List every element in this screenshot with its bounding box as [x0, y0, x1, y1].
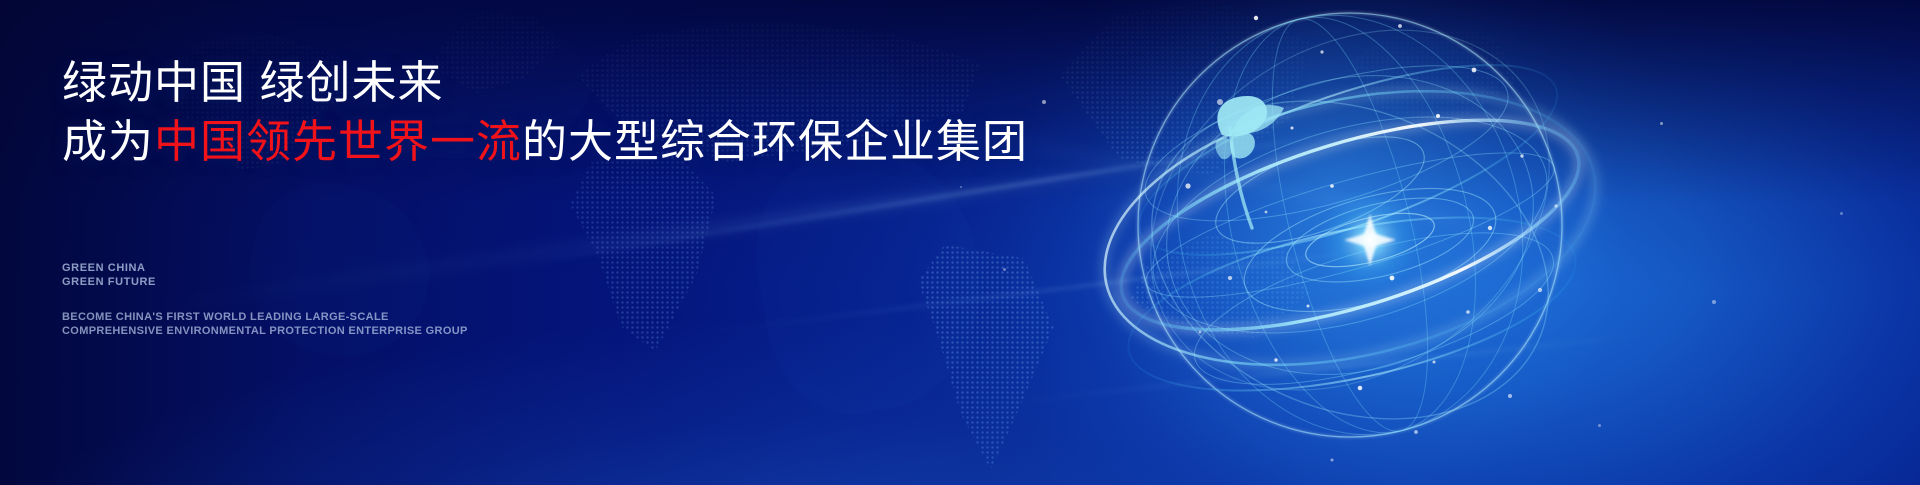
headline-line-2: 成为中国领先世界一流的大型综合环保企业集团 — [62, 119, 1062, 164]
globe-svg — [1070, 0, 1630, 485]
slogan-english-line-2: GREEN FUTURE — [62, 275, 156, 289]
headline-line-1: 绿动中国 绿创未来 — [62, 60, 1062, 105]
slogan-english: GREEN CHINA GREEN FUTURE — [62, 261, 156, 289]
description-english-line-2: COMPREHENSIVE ENVIRONMENTAL PROTECTION E… — [62, 324, 468, 338]
headline-suffix: 的大型综合环保企业集团 — [522, 116, 1028, 167]
headline-block: 绿动中国 绿创未来 成为中国领先世界一流的大型综合环保企业集团 — [62, 60, 1062, 164]
globe-wireframe-illustration — [1070, 0, 1630, 485]
slogan-english-line-1: GREEN CHINA — [62, 261, 156, 275]
description-english-line-1: BECOME CHINA'S FIRST WORLD LEADING LARGE… — [62, 310, 468, 324]
description-english: BECOME CHINA'S FIRST WORLD LEADING LARGE… — [62, 310, 468, 338]
hero-banner: 绿动中国 绿创未来 成为中国领先世界一流的大型综合环保企业集团 GREEN CH… — [0, 0, 1920, 485]
headline-prefix: 成为 — [62, 116, 154, 167]
headline-highlight: 中国领先世界一流 — [154, 116, 522, 167]
